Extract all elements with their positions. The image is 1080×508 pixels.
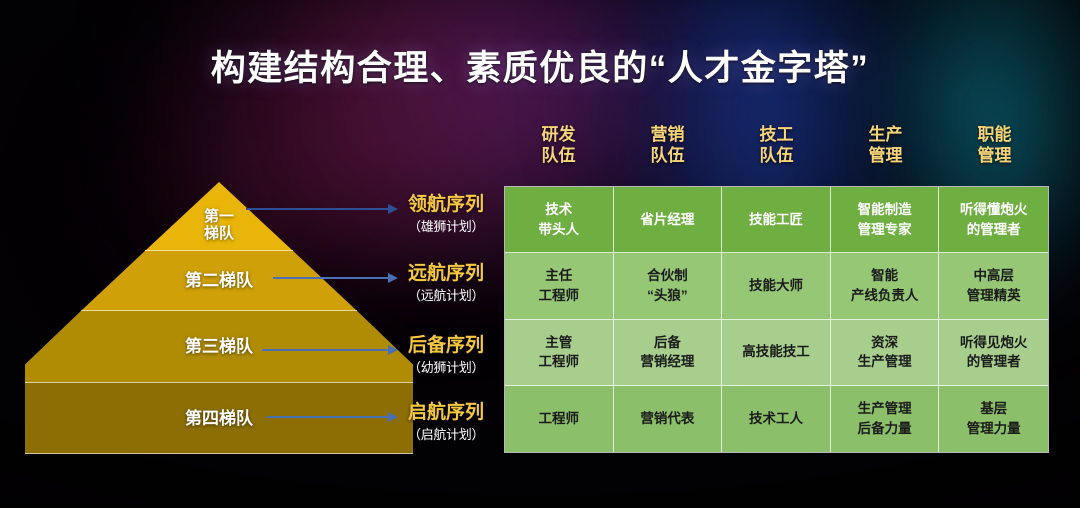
- arrow-tier-3-line: [262, 349, 389, 351]
- column-header-production: 生产 管理: [831, 124, 940, 167]
- table-cell-r2c4: 智能 产线负责人: [831, 253, 940, 319]
- pyramid-tier-1[interactable]: 第一 梯队: [25, 182, 413, 251]
- table-cell-r2c5: 中高层 管理精英: [939, 253, 1048, 319]
- arrow-tier-3-head: [388, 345, 398, 355]
- table-cell-r1c1: 技术 带头人: [505, 187, 614, 253]
- table-cell-r2c2: 合伙制 “头狼”: [614, 253, 723, 319]
- column-header-rd: 研发 队伍: [504, 124, 613, 167]
- pyramid-tier-4-divider: [25, 453, 413, 454]
- arrow-tier-3: [262, 344, 398, 356]
- arrow-tier-1: [246, 203, 398, 215]
- table-cell-r4c1: 工程师: [505, 386, 614, 452]
- table-cell-r3c4: 资深 生产管理: [831, 320, 940, 386]
- page-title: 构建结构合理、素质优良的“人才金字塔”: [0, 40, 1080, 91]
- arrow-tier-4: [267, 411, 398, 423]
- table-cell-r1c3: 技能工匠: [722, 187, 831, 253]
- arrow-tier-4-line: [267, 416, 389, 418]
- arrow-tier-2-head: [388, 273, 398, 283]
- table-cell-r1c5: 听得懂炮火 的管理者: [939, 187, 1048, 253]
- arrow-tier-2: [273, 272, 398, 284]
- table-cell-r4c3: 技术工人: [722, 386, 831, 452]
- column-header-technician: 技工 队伍: [722, 124, 831, 167]
- column-header-marketing: 营销 队伍: [613, 124, 722, 167]
- table-cell-r3c1: 主管 工程师: [505, 320, 614, 386]
- talent-matrix-table: 技术 带头人 省片经理 技能工匠 智能制造 管理专家 听得懂炮火 的管理者 主任…: [504, 186, 1049, 453]
- table-cell-r1c4: 智能制造 管理专家: [831, 187, 940, 253]
- table-cell-r4c5: 基层 管理力量: [939, 386, 1048, 452]
- table-cell-r3c2: 后备 营销经理: [614, 320, 723, 386]
- arrow-tier-4-head: [388, 412, 398, 422]
- table-cell-r4c4: 生产管理 后备力量: [831, 386, 940, 452]
- arrow-tier-1-head: [388, 204, 398, 214]
- table-cell-r2c3: 技能大师: [722, 253, 831, 319]
- table-cell-r2c1: 主任 工程师: [505, 253, 614, 319]
- table-cell-r3c3: 高技能技工: [722, 320, 831, 386]
- column-header-functional: 职能 管理: [940, 124, 1049, 167]
- arrow-tier-2-line: [273, 277, 389, 279]
- table-cell-r1c2: 省片经理: [614, 187, 723, 253]
- table-cell-r3c5: 听得见炮火 的管理者: [939, 320, 1048, 386]
- table-cell-r4c2: 营销代表: [614, 386, 723, 452]
- slide-canvas: 构建结构合理、素质优良的“人才金字塔” 第一 梯队 第二梯队 第三梯队 第四梯队: [0, 0, 1080, 508]
- arrow-tier-1-line: [246, 208, 389, 210]
